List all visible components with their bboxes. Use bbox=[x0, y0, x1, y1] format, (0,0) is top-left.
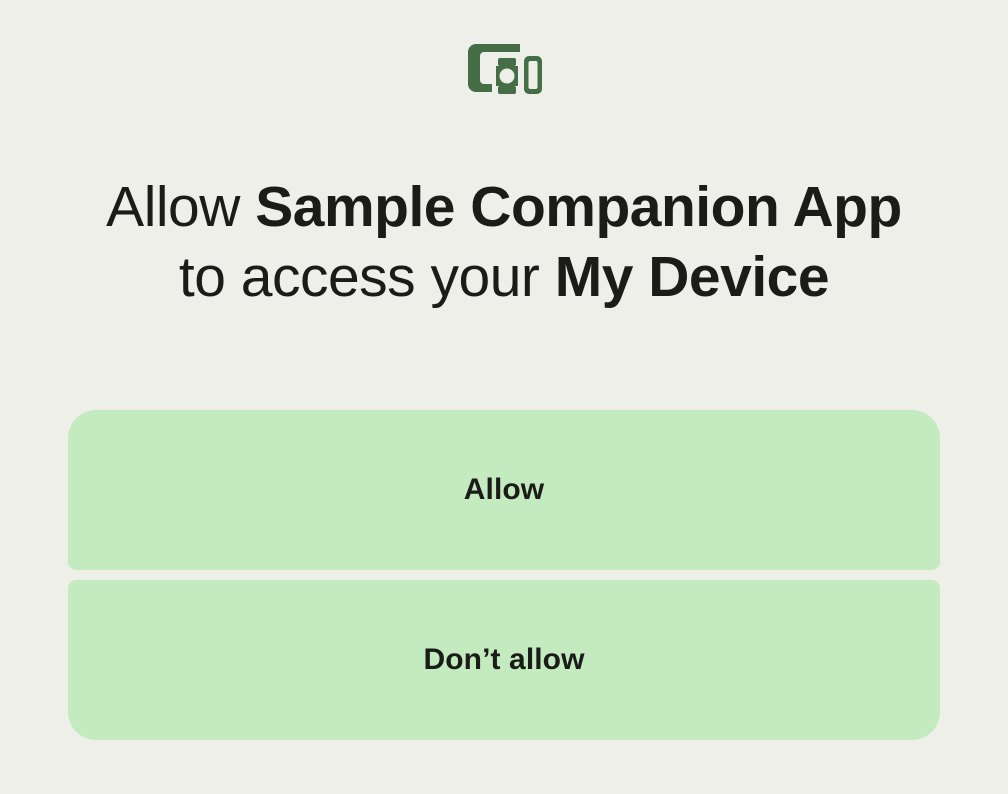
title-line-1: Allow Sample Companion App bbox=[40, 172, 968, 242]
title-line-2: to access your My Device bbox=[40, 242, 968, 312]
companion-devices-icon bbox=[466, 40, 542, 100]
companion-device-permission-dialog: Allow Sample Companion App to access you… bbox=[0, 0, 1008, 794]
dont-allow-button[interactable]: Don’t allow bbox=[68, 580, 940, 740]
dialog-button-stack: Allow Don’t allow bbox=[68, 410, 940, 740]
allow-button[interactable]: Allow bbox=[68, 410, 940, 570]
title-device-name: My Device bbox=[555, 245, 829, 309]
dialog-icon-container bbox=[0, 40, 1008, 100]
page-title: Allow Sample Companion App to access you… bbox=[0, 172, 1008, 312]
title-allow-word: Allow bbox=[106, 175, 255, 239]
title-app-name: Sample Companion App bbox=[255, 175, 902, 239]
title-access-phrase: to access your bbox=[179, 245, 555, 309]
